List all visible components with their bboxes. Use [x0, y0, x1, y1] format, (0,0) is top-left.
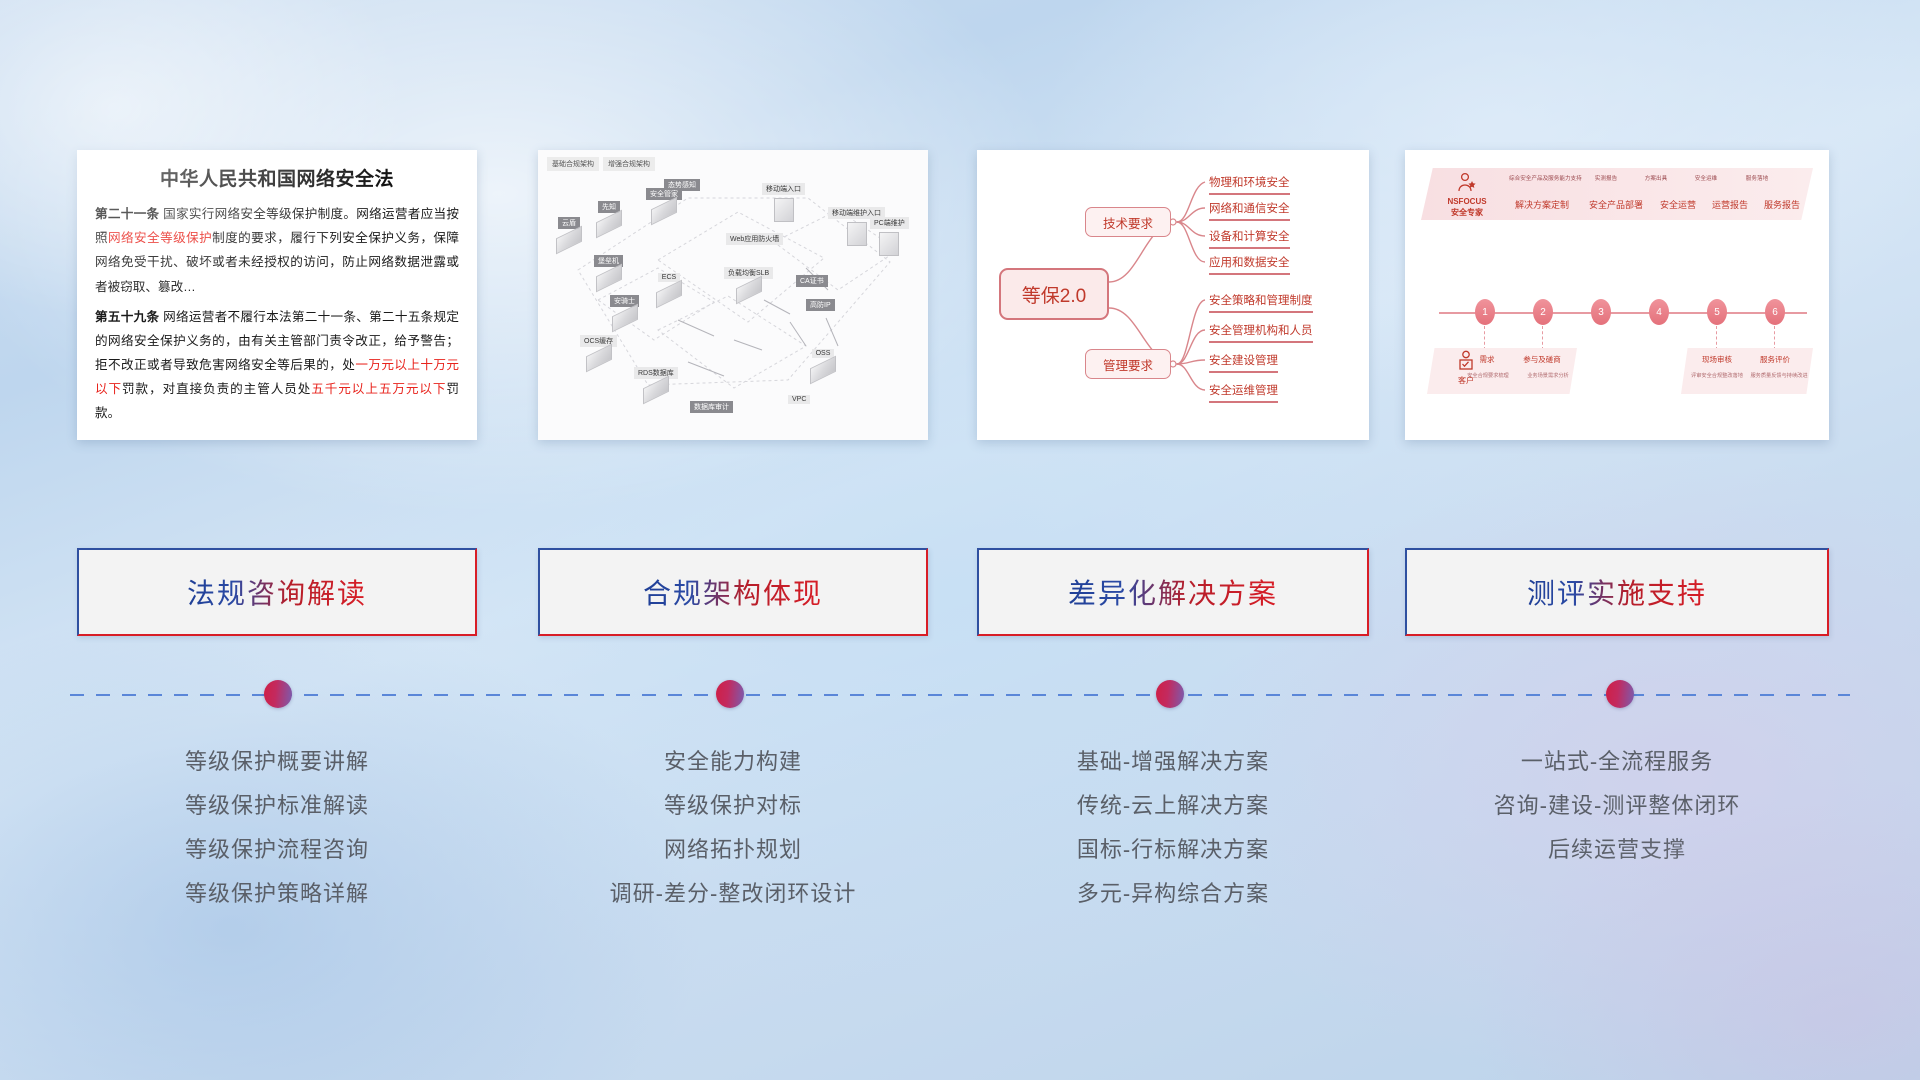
- timeline-step-4[interactable]: 4: [1649, 299, 1669, 325]
- review-sub-0: 评审安全合规整改落地: [1683, 372, 1751, 379]
- mindmap-leaf-tech-1[interactable]: 网络和通信安全: [1209, 200, 1290, 221]
- list-item[interactable]: 国标-行标解决方案: [977, 828, 1369, 872]
- node-rds-database: RDS数据库: [634, 362, 678, 398]
- node-vpc: VPC: [788, 388, 810, 406]
- list-item[interactable]: 基础-增强解决方案: [977, 740, 1369, 784]
- mindmap-leaf-tech-3[interactable]: 应用和数据安全: [1209, 254, 1290, 275]
- article-21-highlight: 网络安全等级保护: [108, 231, 212, 245]
- node-load-balancer: 负载均衡SLB: [724, 262, 773, 298]
- timeline-step-6[interactable]: 6: [1765, 299, 1785, 325]
- customer-sub-1: 业务场景需求分析: [1517, 372, 1579, 379]
- article-59-text-b: 罚款，对直接负责的主管人员处: [122, 382, 311, 396]
- list-item[interactable]: 传统-云上解决方案: [977, 784, 1369, 828]
- mindmap-leaf-mgmt-3[interactable]: 安全运维管理: [1209, 382, 1278, 403]
- review-tag-1: 服务评价: [1753, 354, 1797, 365]
- mindmap-leaf-mgmt-1[interactable]: 安全管理机构和人员: [1209, 322, 1313, 343]
- node-cloud-shield: 云盾: [556, 212, 582, 248]
- node-shape: [612, 304, 638, 333]
- node-shape: [596, 210, 622, 239]
- timeline-dashed-line: [70, 694, 1850, 696]
- nsfocus-expert: NSFOCUS 安全专家: [1435, 172, 1499, 219]
- law-article-21: 第二十一条 国家实行网络安全等级保护制度。网络运营者应当按照网络安全等级保护制度…: [95, 202, 459, 299]
- step-connector-2: [1542, 326, 1543, 350]
- law-article-59: 第五十九条 网络运营者不履行本法第二十一条、第二十五条规定的网络安全保护义务的，…: [95, 305, 459, 426]
- card-dengbao-mindmap[interactable]: 等保2.0 技术要求 管理要求 物理和环境安全 网络和通信安全 设备和计算安全 …: [977, 150, 1369, 440]
- timeline-step-3[interactable]: 3: [1591, 299, 1611, 325]
- list-item[interactable]: 等级保护流程咨询: [77, 828, 477, 872]
- card-cybersecurity-law[interactable]: 中华人民共和国网络安全法 第二十一条 国家实行网络安全等级保护制度。网络运营者应…: [77, 150, 477, 440]
- node-shape: [810, 356, 836, 385]
- band-label-4: 服务落地: [1733, 174, 1781, 182]
- nsfocus-timeline: NSFOCUS 安全专家 综合安全产品及服务能力支持 实测报告 方案出具 安全运…: [1405, 150, 1829, 440]
- node-bastion-host: 堡垒机: [594, 250, 623, 286]
- band-title-2[interactable]: 安全运营: [1653, 198, 1703, 211]
- node-ecs: ECS: [656, 266, 682, 302]
- mindmap-leaf-tech-2[interactable]: 设备和计算安全: [1209, 228, 1290, 249]
- law-title: 中华人民共和国网络安全法: [95, 164, 459, 191]
- node-label: VPC: [788, 395, 810, 404]
- section-heading-label: 合规架构体现: [643, 572, 823, 612]
- article-59-highlight-b: 五千元以上五万元以下: [311, 382, 446, 396]
- node-label: 移动端入口: [762, 183, 805, 195]
- node-shape: [774, 198, 794, 222]
- section-heading-compliance-architecture[interactable]: 合规架构体现: [538, 548, 928, 636]
- list-item[interactable]: 等级保护对标: [538, 784, 928, 828]
- architecture-diagram: 基础合规架构 增强合规架构: [538, 150, 928, 440]
- review-sub-1: 服务质量反馈与持续改进: [1745, 372, 1813, 379]
- list-item[interactable]: 咨询-建设-测评整体闭环: [1405, 784, 1829, 828]
- mindmap-center-node[interactable]: 等保2.0: [999, 268, 1109, 320]
- section-heading-label: 法规咨询解读: [187, 572, 367, 612]
- section-heading-differentiated-solution[interactable]: 差异化解决方案: [977, 548, 1369, 636]
- band-title-3[interactable]: 运营报告: [1705, 198, 1755, 211]
- node-label: ECS: [658, 273, 680, 282]
- node-label: 数据库审计: [690, 401, 733, 413]
- customer-sub-0: 安全合规要求梳理: [1457, 372, 1519, 379]
- detail-list-differentiated-solution: 基础-增强解决方案 传统-云上解决方案 国标-行标解决方案 多元-异构综合方案: [977, 740, 1369, 916]
- timeline-marker-3[interactable]: [1156, 680, 1184, 708]
- timeline-step-1[interactable]: 1: [1475, 299, 1495, 325]
- review-tag-0: 现场审核: [1695, 354, 1739, 365]
- node-shape: [879, 232, 899, 256]
- list-item[interactable]: 调研-差分-整改闭环设计: [538, 872, 928, 916]
- expert-role: 安全专家: [1435, 208, 1499, 219]
- list-item[interactable]: 等级保护标准解读: [77, 784, 477, 828]
- band-title-0[interactable]: 解决方案定制: [1505, 198, 1579, 211]
- list-item[interactable]: 后续运营支撑: [1405, 828, 1829, 872]
- timeline-step-2[interactable]: 2: [1533, 299, 1553, 325]
- list-item[interactable]: 安全能力构建: [538, 740, 928, 784]
- detail-list-regulation-consulting: 等级保护概要讲解 等级保护标准解读 等级保护流程咨询 等级保护策略详解: [77, 740, 477, 916]
- step-connector-6: [1774, 326, 1775, 350]
- card-nsfocus-service-timeline[interactable]: NSFOCUS 安全专家 综合安全产品及服务能力支持 实测报告 方案出具 安全运…: [1405, 150, 1829, 440]
- node-label: RDS数据库: [634, 367, 678, 379]
- node-shape: [656, 280, 682, 309]
- node-shape: [596, 264, 622, 293]
- architecture-nodes: 态势感知 先知 安全管家 云盾 堡垒机: [538, 150, 928, 440]
- band-label-3: 安全运维: [1683, 174, 1729, 182]
- mindmap-leaf-tech-0[interactable]: 物理和环境安全: [1209, 174, 1290, 195]
- card-compliance-architecture[interactable]: 基础合规架构 增强合规架构: [538, 150, 928, 440]
- timeline-marker-2[interactable]: [716, 680, 744, 708]
- node-shape: [556, 226, 582, 255]
- expert-brand-name: NSFOCUS: [1435, 197, 1499, 208]
- node-pc-maintenance: PC端维护: [870, 212, 909, 256]
- section-heading-row: 法规咨询解读 合规架构体现 差异化解决方案 测评实施支持: [0, 548, 1920, 636]
- article-21-label: 第二十一条: [95, 207, 159, 221]
- detail-list-compliance-architecture: 安全能力构建 等级保护对标 网络拓扑规划 调研-差分-整改闭环设计: [538, 740, 928, 916]
- process-timeline: [70, 693, 1850, 697]
- node-label: 高防IP: [806, 299, 835, 311]
- list-item[interactable]: 等级保护概要讲解: [77, 740, 477, 784]
- list-item[interactable]: 网络拓扑规划: [538, 828, 928, 872]
- image-card-row: 中华人民共和国网络安全法 第二十一条 国家实行网络安全等级保护制度。网络运营者应…: [0, 150, 1920, 440]
- node-shape: [643, 376, 669, 405]
- node-label: Web应用防火墙: [726, 233, 783, 245]
- customer-tag-0: 需求: [1467, 354, 1507, 365]
- node-ocs-cache: OCS缓存: [580, 330, 617, 366]
- node-shape: [847, 222, 867, 246]
- step-connector-1: [1484, 326, 1485, 350]
- list-item[interactable]: 多元-异构综合方案: [977, 872, 1369, 916]
- customer-tag-1: 参与及磋商: [1513, 354, 1571, 365]
- mindmap-leaf-mgmt-0[interactable]: 安全策略和管理制度: [1209, 292, 1313, 313]
- band-title-4[interactable]: 服务报告: [1757, 198, 1807, 211]
- detail-list-assessment-support: 一站式-全流程服务 咨询-建设-测评整体闭环 后续运营支撑: [1405, 740, 1829, 872]
- section-heading-regulation-consulting[interactable]: 法规咨询解读: [77, 548, 477, 636]
- node-web-application-firewall: Web应用防火墙: [726, 228, 783, 246]
- step-connector-5: [1716, 326, 1717, 350]
- node-shape: [736, 276, 762, 305]
- band-label-1: 实测报告: [1583, 174, 1629, 182]
- band-title-1[interactable]: 安全产品部署: [1583, 198, 1649, 211]
- node-label: CA证书: [796, 275, 828, 287]
- section-heading-label: 测评实施支持: [1527, 572, 1707, 612]
- timeline-marker-1[interactable]: [264, 680, 292, 708]
- node-label: 负载均衡SLB: [724, 267, 773, 279]
- section-heading-label: 差异化解决方案: [1068, 572, 1278, 612]
- node-security-butler: 安全管家: [646, 183, 682, 219]
- node-shape: [651, 197, 677, 226]
- article-59-label: 第五十九条: [95, 310, 159, 324]
- mindmap-branch-technical[interactable]: 技术要求: [1085, 207, 1171, 237]
- expert-person-icon: [1456, 172, 1478, 192]
- band-label-0: 综合安全产品及服务能力支持: [1509, 174, 1575, 182]
- section-heading-assessment-support[interactable]: 测评实施支持: [1405, 548, 1829, 636]
- node-ca-certificate: CA证书: [796, 270, 828, 288]
- list-item[interactable]: 一站式-全流程服务: [1405, 740, 1829, 784]
- mindmap: 等保2.0 技术要求 管理要求 物理和环境安全 网络和通信安全 设备和计算安全 …: [977, 150, 1369, 440]
- timeline-step-5[interactable]: 5: [1707, 299, 1727, 325]
- timeline-marker-4[interactable]: [1606, 680, 1634, 708]
- node-xianzhi: 先知: [596, 196, 622, 232]
- node-label: PC端维护: [870, 217, 909, 229]
- node-anqishi: 安骑士: [610, 290, 639, 326]
- list-item[interactable]: 等级保护策略详解: [77, 872, 477, 916]
- node-high-defense-ip: 高防IP: [806, 294, 835, 312]
- mindmap-leaf-mgmt-2[interactable]: 安全建设管理: [1209, 352, 1278, 373]
- band-label-2: 方案出具: [1633, 174, 1679, 182]
- mindmap-branch-management[interactable]: 管理要求: [1085, 349, 1171, 379]
- node-database-audit: 数据库审计: [690, 396, 733, 414]
- law-document: 中华人民共和国网络安全法 第二十一条 国家实行网络安全等级保护制度。网络运营者应…: [77, 150, 477, 440]
- node-mobile-entry: 移动端入口: [762, 178, 805, 222]
- node-shape: [586, 344, 612, 373]
- node-oss: OSS: [810, 342, 836, 378]
